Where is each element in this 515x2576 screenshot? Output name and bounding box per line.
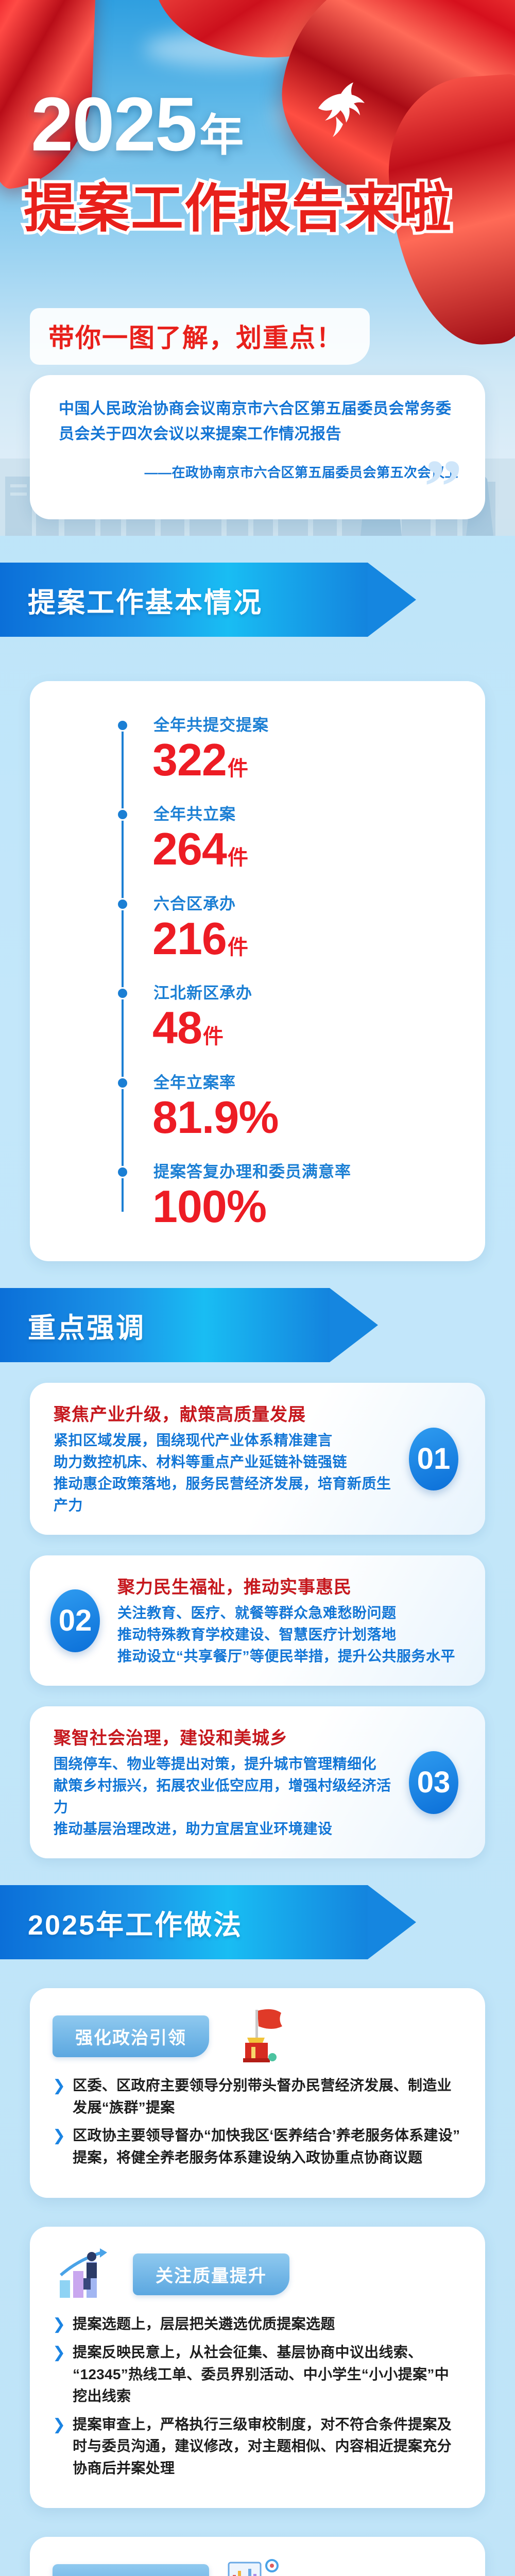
quote-mark-icon: ”: [424, 460, 462, 514]
chevron-right-icon: ❯: [53, 2075, 65, 2119]
infographic-page: 2025年 提案工作报告来啦 带你一图了解，划重点！: [0, 0, 515, 2576]
chevron-right-icon: ❯: [53, 2313, 65, 2336]
hero-subtitle: 带你一图了解，划重点！: [30, 308, 370, 365]
key-point-number: 03: [409, 1751, 458, 1814]
practice-card: 强化政治引领 ❯ 区委、区政府主要领导分别带头督办民营经济发展、制造: [30, 1988, 485, 2197]
practice-card-header: 推动协同联动: [53, 2554, 462, 2576]
hero-year: 2025年: [31, 87, 243, 163]
key-point-number: 02: [50, 1589, 100, 1652]
key-point-card: 聚智社会治理，建设和美城乡 围绕停车、物业等提出对策，提升城市管理精细化 献策乡…: [30, 1706, 485, 1858]
practice-bullets: ❯ 提案选题上，层层把关遴选优质提案选题 ❯ 提案反映民意上，从社会征集、基层协…: [53, 2313, 462, 2480]
stat-value: 100%: [123, 1183, 485, 1230]
bullet-item: ❯ 提案审查上，严格执行三级审校制度，对不符合条件提案及时与委员沟通，建议修改，…: [53, 2414, 462, 2480]
timeline-dot-icon: [116, 1166, 129, 1178]
stat-label: 六合区承办: [123, 891, 485, 914]
key-point-card: 聚焦产业升级，献策高质量发展 紧扣区域发展，围绕现代产业体系精准建言 助力数控机…: [30, 1383, 485, 1535]
bullet-item: ❯ 区政协主要领导督办“加快我区‘医养结合’养老服务体系建设”提案，将健全养老服…: [53, 2125, 462, 2168]
key-point-title: 聚智社会治理，建设和美城乡: [54, 1724, 398, 1749]
intro-card: 中国人民政治协商会议南京市六合区第五届委员会常务委员会关于四次会议以来提案工作情…: [30, 375, 485, 519]
key-point-body: 关注教育、医疗、就餐等群众急难愁盼问题 推动特殊教育学校建设、智慧医疗计划落地 …: [117, 1602, 461, 1667]
key-point-body: 紧扣区域发展，围绕现代产业体系精准建言 助力数控机床、材料等重点产业延链补链强链…: [54, 1430, 398, 1516]
stat-value: 216件: [123, 915, 485, 962]
section-banner-stats: 提案工作基本情况: [0, 563, 368, 637]
bullet-text: 提案选题上，层层把关遴选优质提案选题: [73, 2313, 335, 2336]
timeline-dot-icon: [116, 898, 129, 910]
stats-card: 全年共提交提案 322件 全年共立案 264件 六合区承办 216件 江北新区承…: [30, 681, 485, 1261]
practice-bullets: ❯ 区委、区政府主要领导分别带头督办民营经济发展、制造业发展“族群”提案 ❯ 区…: [53, 2075, 462, 2168]
practice-card-wrapper: 关注质量提升 ❯ 提案选题上，层层把关遴选优质提案选题 ❯ 提案反映民意上，从社…: [30, 2227, 485, 2509]
practice-card-wrapper: 推动协同联动: [30, 2537, 485, 2576]
dove-icon: [304, 76, 381, 143]
practice-pill-label: 推动协同联动: [53, 2564, 209, 2576]
practice-card-header: 关注质量提升: [53, 2244, 462, 2305]
practice-card: 关注质量提升 ❯ 提案选题上，层层把关遴选优质提案选题 ❯ 提案反映民意上，从社…: [30, 2227, 485, 2509]
stat-label: 全年共立案: [123, 801, 485, 824]
stat-label: 全年立案率: [123, 1070, 485, 1093]
key-point-number: 01: [409, 1428, 458, 1490]
chevron-right-icon: ❯: [53, 2125, 65, 2168]
practice-pill-label: 关注质量提升: [133, 2253, 289, 2295]
stat-item: 全年共立案 264件: [123, 801, 485, 873]
stat-value: 322件: [123, 736, 485, 784]
bullet-item: ❯ 提案反映民意上，从社会征集、基层协商中议出线索、“12345”热线工单、委员…: [53, 2342, 462, 2408]
stat-label: 江北新区承办: [123, 980, 485, 1003]
stat-item: 六合区承办 216件: [123, 891, 485, 962]
section-key-points: 重点强调 聚焦产业升级，献策高质量发展 紧扣区域发展，围绕现代产业体系精准建言 …: [0, 1288, 515, 1858]
bullet-item: ❯ 区委、区政府主要领导分别带头督办民营经济发展、制造业发展“族群”提案: [53, 2075, 462, 2119]
hero-subtitle-wrap: 带你一图了解，划重点！: [30, 308, 370, 365]
dashboard-analytics-icon: [222, 2554, 289, 2576]
banner-label: 2025年工作做法: [0, 1902, 243, 1943]
stat-item: 全年共提交提案 322件: [123, 712, 485, 784]
practice-card: 推动协同联动: [30, 2537, 485, 2576]
section-practices: 2025年工作做法 强化政治引领: [0, 1885, 515, 2576]
stat-item: 提案答复办理和委员满意率 100%: [123, 1159, 485, 1230]
timeline-dot-icon: [116, 719, 129, 732]
timeline-dot-icon: [116, 987, 129, 999]
stat-item: 江北新区承办 48件: [123, 980, 485, 1052]
stat-label: 提案答复办理和委员满意率: [123, 1159, 485, 1182]
practice-card-header: 强化政治引领: [53, 2006, 462, 2066]
stat-label: 全年共提交提案: [123, 712, 485, 735]
page-title: 提案工作报告来啦: [24, 181, 452, 236]
key-point-title: 聚力民生福祉，推动实事惠民: [117, 1573, 461, 1598]
practice-pill-label: 强化政治引领: [53, 2015, 209, 2057]
banner-label: 提案工作基本情况: [0, 580, 263, 620]
banner-label: 重点强调: [0, 1305, 145, 1346]
section-banner-key-points: 重点强调: [0, 1288, 330, 1362]
stat-value: 81.9%: [123, 1094, 485, 1141]
intro-attribution: ——在政协南京市六合区第五届委员会第五次会议上: [59, 462, 458, 481]
bullet-item: ❯ 提案选题上，层层把关遴选优质提案选题: [53, 2313, 462, 2336]
key-point-body: 围绕停车、物业等提出对策，提升城市管理精细化 献策乡村振兴，拓展农业低空应用，增…: [54, 1753, 398, 1840]
bullet-text: 区政协主要领导督办“加快我区‘医养结合’养老服务体系建设”提案，将健全养老服务体…: [73, 2125, 462, 2168]
flag-monument-icon: [222, 2006, 289, 2066]
bullet-text: 提案反映民意上，从社会征集、基层协商中议出线索、“12345”热线工单、委员界别…: [73, 2342, 462, 2408]
intro-text: 中国人民政治协商会议南京市六合区第五届委员会常务委员会关于四次会议以来提案工作情…: [59, 397, 458, 447]
section-stats: 提案工作基本情况 全年共提交提案 322件 全年共立案 264件 六合区承办: [0, 563, 515, 1261]
bullet-text: 提案审查上，严格执行三级审校制度，对不符合条件提案及时与委员沟通，建议修改，对主…: [73, 2414, 462, 2480]
key-point-card: 聚力民生福祉，推动实事惠民 关注教育、医疗、就餐等群众急难愁盼问题 推动特殊教育…: [30, 1555, 485, 1686]
chevron-right-icon: ❯: [53, 2414, 65, 2480]
stat-value: 264件: [123, 825, 485, 873]
chevron-right-icon: ❯: [53, 2342, 65, 2408]
growth-chart-person-icon: [53, 2244, 119, 2305]
practice-card-wrapper: 强化政治引领 ❯ 区委、区政府主要领导分别带头督办民营经济发展、制造: [30, 1988, 485, 2197]
key-point-title: 聚焦产业升级，献策高质量发展: [54, 1400, 398, 1426]
section-banner-practices: 2025年工作做法: [0, 1885, 368, 1959]
bullet-text: 区委、区政府主要领导分别带头督办民营经济发展、制造业发展“族群”提案: [73, 2075, 462, 2119]
stat-item: 全年立案率 81.9%: [123, 1070, 485, 1141]
hero-section: 2025年 提案工作报告来啦 带你一图了解，划重点！: [0, 0, 515, 536]
stat-value: 48件: [123, 1004, 485, 1052]
timeline-dot-icon: [116, 1077, 129, 1089]
